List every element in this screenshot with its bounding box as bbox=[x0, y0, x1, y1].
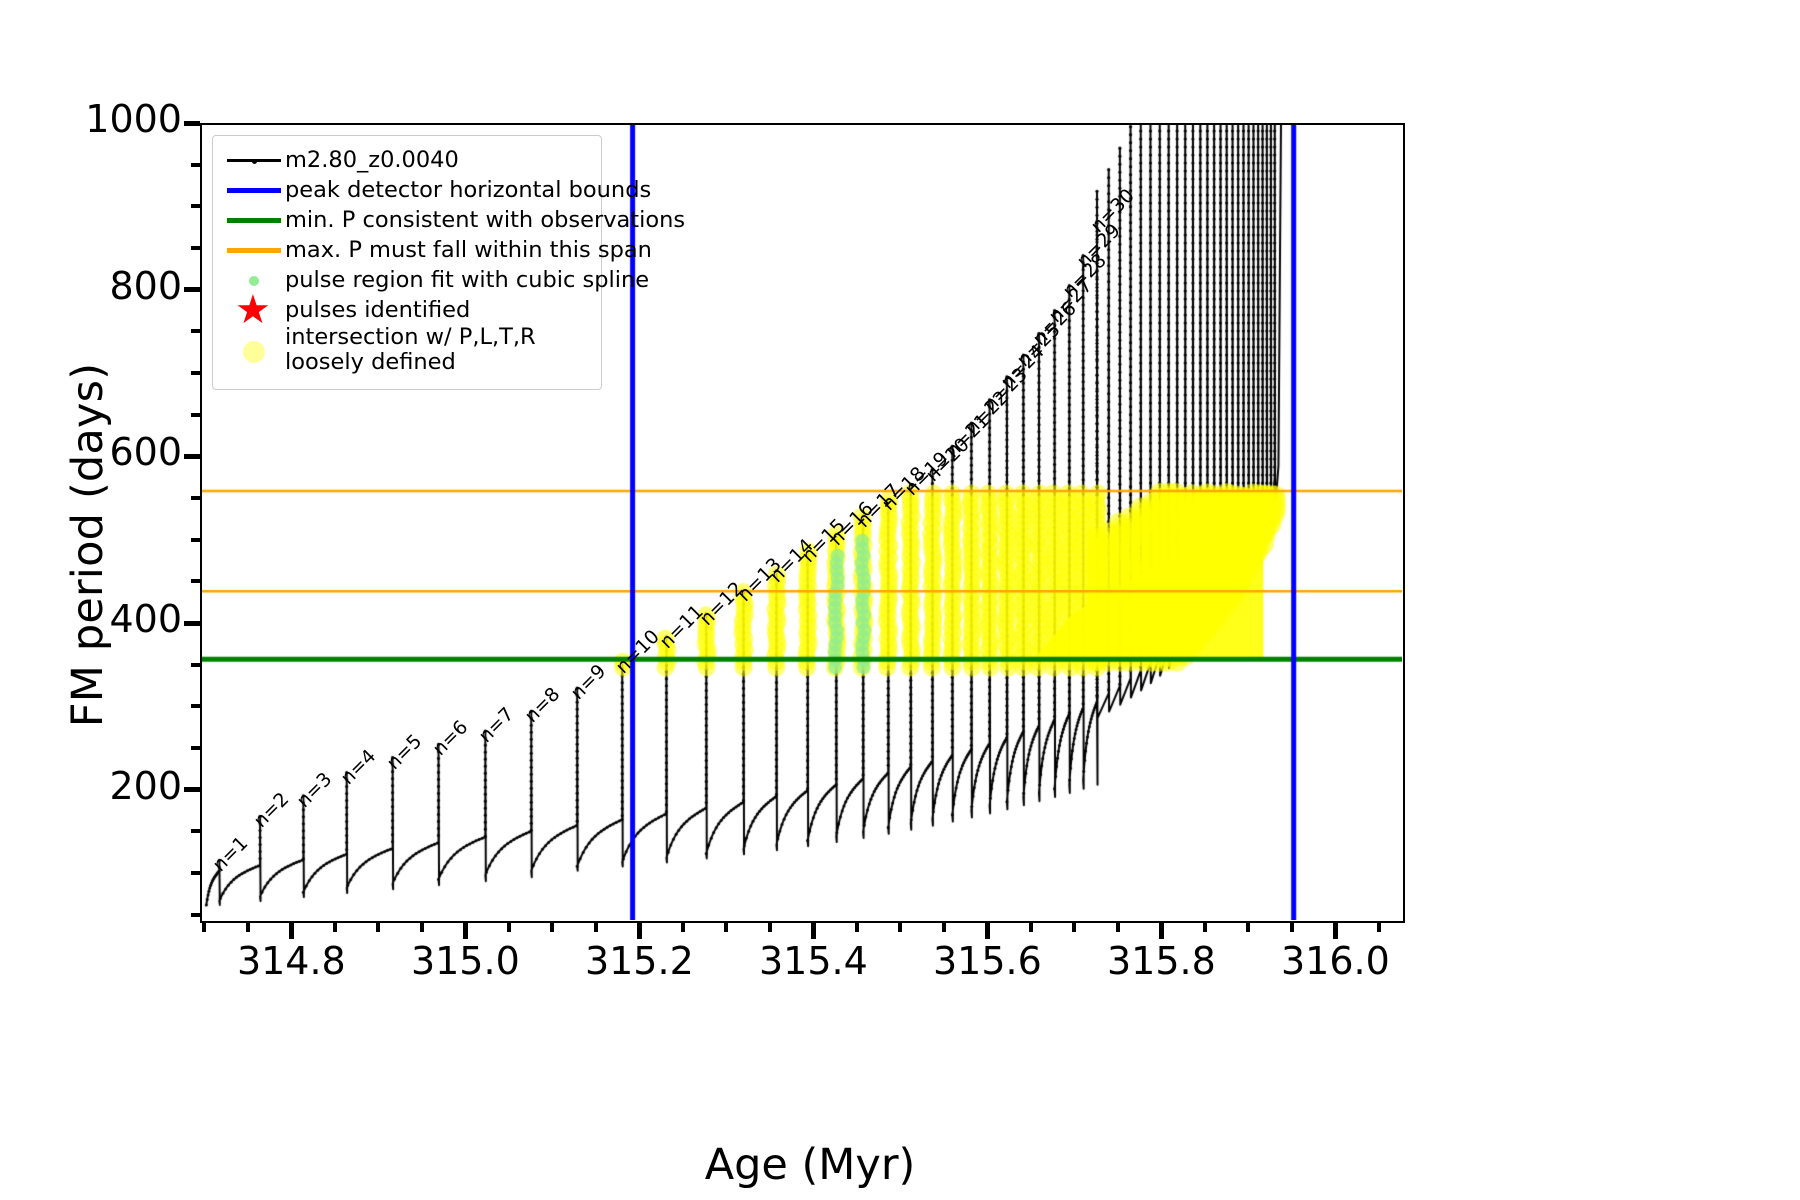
axis-tick bbox=[420, 923, 424, 932]
axis-tick bbox=[246, 923, 250, 932]
axis-tick bbox=[191, 579, 200, 583]
axis-tick bbox=[191, 204, 200, 208]
axis-tick bbox=[191, 496, 200, 500]
axis-tick bbox=[191, 704, 200, 708]
y-tick-label: 1000 bbox=[12, 97, 182, 141]
legend-item-label: peak detector horizontal bounds bbox=[285, 176, 651, 204]
axis-tick bbox=[184, 787, 200, 792]
axis-tick bbox=[191, 913, 200, 917]
legend-item-label: pulses identified bbox=[285, 296, 470, 324]
x-tick-label: 316.0 bbox=[1235, 939, 1435, 983]
axis-tick bbox=[289, 923, 294, 939]
legend-item[interactable]: m2.80_z0.0040 bbox=[223, 145, 591, 175]
legend-item[interactable]: peak detector horizontal bounds bbox=[223, 175, 591, 205]
axis-tick bbox=[681, 923, 685, 932]
x-tick-label: 315.4 bbox=[713, 939, 913, 983]
axis-tick bbox=[811, 923, 816, 939]
axis-tick bbox=[191, 329, 200, 333]
legend-item[interactable]: max. P must fall within this span bbox=[223, 235, 591, 265]
legend-item[interactable]: intersection w/ P,L,T,R loosely defined bbox=[223, 325, 591, 379]
axis-tick bbox=[463, 923, 468, 939]
axis-tick bbox=[191, 871, 200, 875]
legend-item-label: max. P must fall within this span bbox=[285, 236, 652, 264]
axis-tick bbox=[1203, 923, 1207, 932]
star-icon: ★ bbox=[235, 295, 271, 325]
legend-item-label: intersection w/ P,L,T,R loosely defined bbox=[285, 325, 585, 375]
x-tick-label: 315.6 bbox=[887, 939, 1087, 983]
axis-tick bbox=[191, 246, 200, 250]
axis-tick bbox=[1029, 923, 1033, 932]
y-tick-label: 400 bbox=[12, 597, 182, 641]
axis-tick bbox=[191, 746, 200, 750]
legend-item-label: m2.80_z0.0040 bbox=[285, 146, 459, 174]
axis-tick bbox=[1246, 923, 1250, 932]
y-tick-label: 600 bbox=[12, 430, 182, 474]
axis-tick bbox=[1159, 923, 1164, 939]
x-tick-label: 315.0 bbox=[365, 939, 565, 983]
axis-tick bbox=[1116, 923, 1120, 932]
axis-tick bbox=[768, 923, 772, 932]
axis-tick bbox=[942, 923, 946, 932]
axis-tick bbox=[191, 663, 200, 667]
x-axis-title: Age (Myr) bbox=[200, 1140, 1420, 1190]
legend-bigdot-swatch bbox=[243, 341, 265, 363]
axis-tick bbox=[855, 923, 859, 932]
axis-tick bbox=[594, 923, 598, 932]
x-tick-label: 315.2 bbox=[539, 939, 739, 983]
axis-tick bbox=[1377, 923, 1381, 932]
axis-tick bbox=[376, 923, 380, 932]
legend-point-marker bbox=[252, 159, 257, 164]
axis-tick bbox=[1072, 923, 1076, 932]
axis-tick bbox=[191, 163, 200, 167]
y-tick-label: 200 bbox=[12, 764, 182, 808]
legend-line-swatch bbox=[227, 248, 281, 253]
axis-tick bbox=[507, 923, 511, 932]
axis-tick bbox=[184, 621, 200, 626]
chart-figure: FM period (days) Age (Myr) 2004006008001… bbox=[0, 0, 1800, 1200]
axis-tick bbox=[333, 923, 337, 932]
axis-tick bbox=[184, 454, 200, 459]
legend-line-swatch bbox=[227, 218, 281, 223]
legend-dot-swatch bbox=[249, 276, 259, 286]
axis-tick bbox=[191, 538, 200, 542]
axis-tick bbox=[1333, 923, 1338, 939]
axis-tick bbox=[184, 121, 200, 126]
axis-tick bbox=[191, 829, 200, 833]
legend-item[interactable]: pulse region fit with cubic spline bbox=[223, 265, 591, 295]
legend-item[interactable]: ★pulses identified bbox=[223, 295, 591, 325]
axis-tick bbox=[191, 413, 200, 417]
x-tick-label: 314.8 bbox=[191, 939, 391, 983]
y-tick-label: 800 bbox=[12, 264, 182, 308]
axis-tick bbox=[1290, 923, 1294, 932]
axis-tick bbox=[202, 923, 206, 932]
axis-tick bbox=[724, 923, 728, 932]
axis-tick bbox=[184, 287, 200, 292]
legend-item-label: min. P consistent with observations bbox=[285, 206, 685, 234]
axis-tick bbox=[637, 923, 642, 939]
legend-line-swatch bbox=[227, 188, 281, 193]
axis-tick bbox=[898, 923, 902, 932]
axis-tick bbox=[985, 923, 990, 939]
legend-item[interactable]: min. P consistent with observations bbox=[223, 205, 591, 235]
legend: m2.80_z0.0040peak detector horizontal bo… bbox=[212, 135, 602, 390]
axis-tick bbox=[191, 371, 200, 375]
axis-tick bbox=[550, 923, 554, 932]
x-tick-label: 315.8 bbox=[1061, 939, 1261, 983]
legend-item-label: pulse region fit with cubic spline bbox=[285, 266, 649, 294]
